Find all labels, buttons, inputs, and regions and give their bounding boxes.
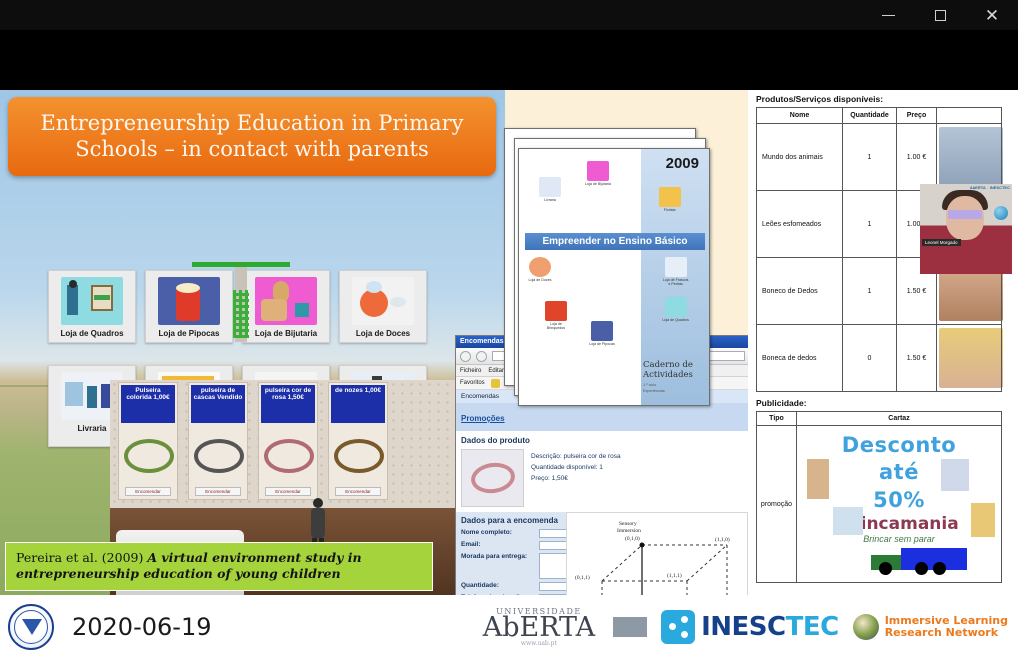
aberta-block-mark [613, 617, 647, 637]
inesctec-logo: INESCTEC [661, 610, 839, 644]
slide-footer: 2020-06-19 UNIVERSIDADE AbERTA www.uab.p… [0, 595, 1018, 659]
shop-label: Livraria [78, 424, 107, 433]
col-nome: Nome [757, 108, 843, 124]
publicity-table: Tipo Cartaz promoção Desconto até 50 [756, 411, 1002, 583]
speaker-name-tag: Leonel Morgado [922, 239, 961, 246]
shop-label: Loja de Pipocas [159, 329, 220, 338]
close-button[interactable]: ✕ [966, 0, 1018, 30]
product-meta: Descrição: pulseira cor de rosa Quantida… [531, 449, 621, 507]
sheet-left-column: Livraria Loja de Bijutaria Loja de Doces [519, 149, 641, 405]
booklet-sub2: Experiências [643, 389, 705, 393]
webcam-overlay[interactable]: AbERTA INESCTEC Leonel Morgado [920, 184, 1012, 274]
sheet-year: 2009 [666, 155, 699, 172]
stall[interactable]: pulseira cor de rosa 1,50€ Encomendar [258, 382, 318, 500]
favourites-label[interactable]: Favoritos [460, 380, 485, 386]
stall-price-tag: Pulseira colorida 1,00€ [121, 385, 175, 423]
truck-illustration [871, 549, 967, 575]
field-label-morada: Morada para entrega: [461, 553, 533, 561]
menu-editar[interactable]: Editar [488, 368, 504, 374]
booklet-sub1: 1.º ciclo [643, 383, 705, 387]
slide-canvas: Loja de Quadros Loja de Pipocas Loj [0, 90, 1018, 610]
slide-sheet-front[interactable]: Livraria Loja de Bijutaria Loja de Doces [518, 148, 710, 406]
window-titlebar: ✕ [0, 0, 1018, 30]
university-seal-icon [8, 604, 54, 650]
slide-title-banner: Entrepreneurship Education in Primary Sc… [8, 97, 496, 176]
product-descricao: Descrição: pulseira cor de rosa [531, 451, 621, 462]
star-icon [491, 379, 500, 388]
sheet-icon-frascos: Loja de Frascos e Pedras [663, 257, 689, 286]
shop-card[interactable]: Loja de Doces [339, 270, 427, 343]
ad-thumb-4 [971, 503, 995, 537]
products-panel: Produtos/Serviços disponíveis: Nome Quan… [748, 90, 1018, 610]
cell-nome: Mundo dos animais [757, 124, 843, 191]
maximize-button[interactable] [914, 0, 966, 30]
cell-preco: 1.50 € [897, 325, 937, 392]
cube-vertex-110: (1,1,0) [715, 536, 730, 543]
shop-card[interactable]: Loja de Bijutaria [242, 270, 330, 343]
col-tipo: Tipo [757, 412, 797, 426]
ad-thumb-2 [833, 507, 863, 535]
stall-price-tag: pulseira de cascas Vendido [191, 385, 245, 423]
inesctec-badge-icon [661, 610, 695, 644]
product-section-title: Dados do produto [456, 431, 749, 447]
sheet-icon-doces: Loja de Doces [527, 257, 553, 282]
shop-label: Loja de Quadros [60, 329, 123, 338]
stall-order-button[interactable]: Encomendar [335, 487, 381, 496]
minimize-button[interactable] [862, 0, 914, 30]
globe-icon [994, 206, 1008, 220]
maximize-icon [935, 10, 946, 21]
window-controls: ✕ [862, 0, 1018, 30]
webcam-corner-logos: AbERTA INESCTEC [970, 185, 1010, 190]
close-icon: ✕ [985, 7, 999, 24]
page-title: Entrepreneurship Education in Primary Sc… [26, 110, 478, 163]
cell-cartaz: Desconto até 50% Brincamania Brincar sem… [797, 426, 1002, 583]
virtual-world-screenshot: Loja de Quadros Loja de Pipocas Loj [0, 90, 505, 610]
shop-card[interactable]: Loja de Quadros [48, 270, 136, 343]
cell-quantidade: 0 [843, 325, 897, 392]
sheet-title-band: Empreender no Ensino Básico [525, 233, 705, 250]
iln-orb-icon [853, 614, 879, 640]
ad-line1: Desconto [799, 429, 999, 456]
shop-label: Loja de Bijutaria [255, 329, 317, 338]
ad-brand: Brincamania [799, 514, 999, 534]
forward-icon[interactable] [476, 351, 487, 362]
table-row: promoção Desconto até 50% Brincamania Br… [757, 426, 1002, 583]
stall-price-tag: de nozes 1,00€ [331, 385, 385, 423]
sheet-icon-pipocas: Loja de Pipocas [589, 321, 615, 346]
stall-item [124, 439, 174, 473]
back-icon[interactable] [460, 351, 471, 362]
field-label-email: Email: [461, 541, 533, 549]
products-title: Produtos/Serviços disponíveis: [748, 90, 1018, 107]
iln-logo: Immersive Learning Research Network [853, 614, 1008, 640]
ad-thumb-1 [807, 459, 829, 499]
shop-thumbnail-quadros [61, 277, 123, 325]
tec-text: TEC [786, 612, 839, 642]
shop-card[interactable]: Loja de Pipocas [145, 270, 233, 343]
product-detail-row: Descrição: pulseira cor de rosa Quantida… [456, 447, 749, 512]
table-header-row: Tipo Cartaz [757, 412, 1002, 426]
product-quantidade: Quantidade disponível: 1 [531, 462, 621, 473]
ad-line2: até [799, 456, 999, 483]
shop-label: Loja de Doces [356, 329, 410, 338]
stall-order-button[interactable]: Encomendar [125, 487, 171, 496]
shop-thumbnail-bijutaria [255, 277, 317, 325]
sheet-icon-quadros: Loja de Quadros [659, 297, 693, 322]
promotions-link-row: Promoções [456, 403, 749, 431]
menu-ficheiro[interactable]: Ficheiro [460, 368, 481, 374]
cube-vertex-111: (1,1,1) [667, 572, 682, 579]
stall-item [264, 439, 314, 473]
product-preco: Preço: 1,50€ [531, 473, 621, 484]
stall-order-button[interactable]: Encomendar [265, 487, 311, 496]
citation-prefix: Pereira et al. (2009) [16, 550, 147, 565]
col-imagem [937, 108, 1002, 124]
citation-box: Pereira et al. (2009) A virtual environm… [5, 542, 433, 591]
garden-grid [233, 290, 249, 338]
cell-quantidade: 1 [843, 191, 897, 258]
garden-divider [228, 262, 254, 342]
stall-item [334, 439, 384, 473]
col-cartaz: Cartaz [797, 412, 1002, 426]
cell-nome: Leões esfomeados [757, 191, 843, 258]
stall[interactable]: pulseira de cascas Vendido Encomendar [188, 382, 248, 500]
presentation-stage: Loja de Quadros Loja de Pipocas Loj [0, 30, 1018, 659]
cube-vertex-010: (0,1,0) [625, 535, 640, 542]
minimize-icon [882, 15, 895, 16]
field-label-quantidade: Quantidade: [461, 582, 533, 590]
col-preco: Preço [897, 108, 937, 124]
sheet-right-column: 2009 Florista Loja de Frascos e Pedras L… [641, 149, 709, 405]
inesctec-mini-logo: INESCTEC [990, 185, 1010, 190]
cell-quantidade: 1 [843, 258, 897, 325]
cube-vertex-011: (0,1,1) [575, 574, 590, 581]
sheet-icon-florista: Florista [657, 187, 683, 212]
footer-logos: UNIVERSIDADE AbERTA www.uab.pt INESCTEC … [483, 607, 1018, 647]
cell-image [937, 124, 1002, 191]
cell-image [937, 325, 1002, 392]
cube-axis-sensory2: Immersion [617, 528, 641, 534]
booklet-title: Caderno de Actividades [643, 361, 705, 381]
glasses-icon [948, 210, 982, 219]
stall-item [194, 439, 244, 473]
product-image [461, 449, 524, 507]
ad-line3: 50% [799, 484, 999, 511]
shop-thumbnail-pipocas [158, 277, 220, 325]
cube-axis-sensory: Sensory [619, 521, 637, 527]
sheet-icon-brinquedos: Loja de Brinquedos [543, 301, 569, 330]
stall-order-button[interactable]: Encomendar [195, 487, 241, 496]
cell-preco: 1.00 € [897, 124, 937, 191]
promotions-link[interactable]: Promoções [461, 414, 505, 423]
ad-thumb-3 [941, 459, 969, 491]
booklet-caption: Caderno de Actividades 1.º ciclo Experiê… [643, 361, 705, 393]
publicity-title: Publicidade: [748, 392, 1018, 411]
table-header-row: Nome Quantidade Preço [757, 108, 1002, 124]
cell-nome: Boneca de dedos [757, 325, 843, 392]
sheet-icon-livraria: Livraria [537, 177, 563, 202]
inesc-text: INESC [701, 612, 786, 642]
shop-thumbnail-doces [352, 277, 414, 325]
advertisement-poster: Desconto até 50% Brincamania Brincar sem… [799, 429, 999, 579]
ad-slogan: Brincar sem parar [799, 534, 999, 544]
field-label-nome: Nome completo: [461, 529, 533, 537]
presentation-date: 2020-06-19 [72, 613, 211, 641]
cell-quantidade: 1 [843, 124, 897, 191]
iln-line2: Research Network [885, 627, 1008, 639]
col-quantidade: Quantidade [843, 108, 897, 124]
cell-nome: Boneco de Dedos [757, 258, 843, 325]
stall-price-tag: pulseira cor de rosa 1,50€ [261, 385, 315, 423]
aberta-main: AbERTA [483, 616, 595, 640]
aberta-logo: UNIVERSIDADE AbERTA www.uab.pt [483, 607, 595, 647]
stall[interactable]: de nozes 1,00€ Encomendar [328, 382, 388, 500]
sheet-title: Empreender no Ensino Básico [542, 236, 687, 247]
table-row: Boneca de dedos 0 1.50 € [757, 325, 1002, 392]
sheet-icon-bijutaria: Loja de Bijutaria [585, 161, 611, 186]
table-row: Mundo dos animais 1 1.00 € [757, 124, 1002, 191]
stall[interactable]: Pulseira colorida 1,00€ Encomendar [118, 382, 178, 500]
aberta-mini-logo: AbERTA [970, 185, 986, 190]
cell-tipo: promoção [757, 426, 797, 583]
